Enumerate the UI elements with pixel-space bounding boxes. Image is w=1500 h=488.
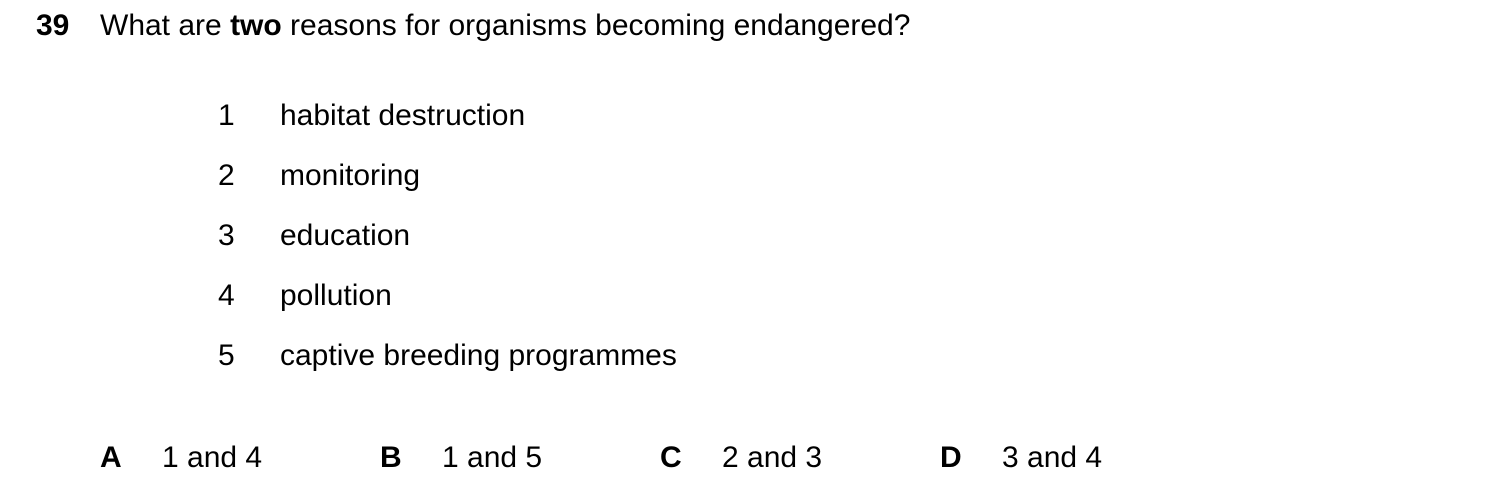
statement-label: education [280, 218, 410, 254]
statement-index: 2 [218, 158, 280, 194]
answer-option-d-letter: D [940, 440, 1002, 476]
question-page: 39 What are two reasons for organisms be… [0, 0, 1500, 488]
answer-option-a[interactable]: A 1 and 4 [100, 440, 380, 476]
list-item: 1 habitat destruction [218, 98, 918, 158]
answer-option-c-letter: C [660, 440, 722, 476]
question-text: What are two reasons for organisms becom… [100, 8, 910, 44]
question-text-part-2: reasons for organisms becoming endangere… [282, 9, 911, 42]
answer-option-a-letter: A [100, 440, 162, 476]
answer-option-c-text: 2 and 3 [722, 440, 822, 476]
statement-label: captive breeding programmes [280, 338, 677, 374]
list-item: 2 monitoring [218, 158, 918, 218]
question-text-emphasis: two [230, 9, 282, 42]
list-item: 5 captive breeding programmes [218, 338, 918, 398]
answer-option-d-text: 3 and 4 [1002, 440, 1102, 476]
answer-option-b-letter: B [380, 440, 442, 476]
answer-option-d[interactable]: D 3 and 4 [940, 440, 1220, 476]
statement-list: 1 habitat destruction 2 monitoring 3 edu… [218, 98, 918, 398]
statement-label: pollution [280, 278, 392, 314]
answer-option-b[interactable]: B 1 and 5 [380, 440, 660, 476]
answer-options: A 1 and 4 B 1 and 5 C 2 and 3 D 3 and 4 [100, 440, 1220, 476]
statement-label: monitoring [280, 158, 420, 194]
list-item: 4 pollution [218, 278, 918, 338]
answer-option-c[interactable]: C 2 and 3 [660, 440, 940, 476]
answer-option-a-text: 1 and 4 [162, 440, 262, 476]
question-text-part-1: What are [100, 9, 230, 42]
statement-index: 1 [218, 98, 280, 134]
answer-option-b-text: 1 and 5 [442, 440, 542, 476]
statement-index: 3 [218, 218, 280, 254]
statement-label: habitat destruction [280, 98, 525, 134]
question-number: 39 [36, 8, 100, 44]
list-item: 3 education [218, 218, 918, 278]
statement-index: 4 [218, 278, 280, 314]
statement-index: 5 [218, 338, 280, 374]
question-stem: 39 What are two reasons for organisms be… [36, 8, 910, 44]
